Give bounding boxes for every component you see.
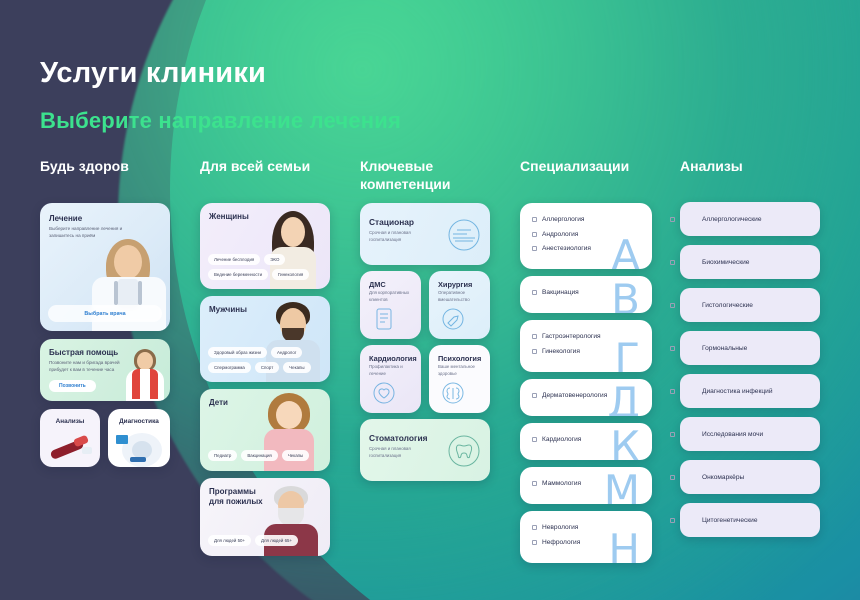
spec-item[interactable]: Нефрология: [532, 536, 640, 551]
card-analyses-mini[interactable]: Анализы: [40, 409, 100, 467]
analysis-label: Гормональные: [680, 345, 747, 352]
card-surgery[interactable]: Хирургия Оперативное вмешательство: [429, 271, 490, 339]
call-button[interactable]: Позвонить: [49, 380, 96, 392]
analysis-item-cytogenetic[interactable]: Цитогенетические: [680, 503, 820, 537]
tag[interactable]: Гинекология: [272, 269, 309, 280]
tags-women: Лечение бесплодия ЭКО Ведение беременнос…: [208, 254, 314, 280]
card-family-men[interactable]: Мужчины Здоровый образ жизни Андролог Сп…: [200, 296, 330, 382]
page-subtitle: Выберите направление лечения: [40, 108, 401, 134]
card-treatment-title: Лечение: [49, 214, 127, 223]
mri-scanner-icon: [116, 431, 162, 465]
scalpel-icon: [441, 307, 465, 331]
tag[interactable]: Ведение беременности: [208, 269, 268, 280]
column-title-competence: Ключевые компетенции: [360, 158, 475, 193]
card-psychology[interactable]: Психология Ваше ментальное здоровье: [429, 345, 490, 413]
card-diagnostics-mini-title: Диагностика: [108, 418, 170, 425]
analysis-item-oncomarkers[interactable]: Онкомаркёры: [680, 460, 820, 494]
column-title-analyses: Анализы: [680, 158, 743, 176]
tags-children: Педиатр Вакцинация Чекапы: [208, 450, 320, 461]
spec-item[interactable]: Маммология: [532, 477, 640, 492]
spec-group-a[interactable]: А Аллергология Андрология Анестезиология: [520, 203, 652, 269]
analysis-label: Цитогенетические: [680, 517, 758, 524]
card-fast-help-title: Быстрая помощь: [49, 348, 123, 357]
tag[interactable]: ЭКО: [264, 254, 285, 265]
card-cardiology[interactable]: Кардиология Профилактика и лечение: [360, 345, 421, 413]
tag[interactable]: Здоровый образ жизни: [208, 347, 267, 358]
paramedic-photo: [120, 345, 168, 401]
card-cardiology-title: Кардиология: [369, 354, 417, 363]
card-dentistry-title: Стоматология: [369, 433, 428, 443]
card-dms-subtitle: Для корпоративных клиентов: [369, 290, 412, 304]
tooth-icon: [448, 435, 480, 467]
card-cardiology-subtitle: Профилактика и лечение: [369, 364, 412, 378]
spec-group-k[interactable]: К Кардиология: [520, 423, 652, 460]
analysis-item-urine[interactable]: Исследования мочи: [680, 417, 820, 451]
spec-group-n[interactable]: Н Неврология Нефрология: [520, 511, 652, 563]
tag[interactable]: Педиатр: [208, 450, 237, 461]
spec-group-d[interactable]: Д Дерматовенерология: [520, 379, 652, 416]
spec-item[interactable]: Вакцинация: [532, 286, 640, 301]
card-dms[interactable]: ДМС Для корпоративных клиентов: [360, 271, 421, 339]
card-family-children-title: Дети: [209, 398, 228, 408]
card-treatment-subtitle: Выберите направление лечения и запишитес…: [49, 226, 127, 240]
tag[interactable]: Спорт: [255, 362, 279, 373]
analysis-item-biochemical[interactable]: Биохимические: [680, 245, 820, 279]
spec-item[interactable]: Гастроэнтерология: [532, 330, 640, 345]
card-fast-help[interactable]: Быстрая помощь Позвоните нам и бригада в…: [40, 339, 170, 401]
page-root: Услуги клиники Выберите направление лече…: [0, 0, 860, 600]
spec-item[interactable]: Гинекология: [532, 345, 640, 360]
choose-doctor-button[interactable]: Выбрать врача: [48, 305, 162, 322]
column-title-specializations: Специализации: [520, 158, 629, 176]
tag[interactable]: Для людей 50+: [208, 535, 251, 546]
card-psychology-subtitle: Ваше ментальное здоровье: [438, 364, 481, 378]
card-treatment[interactable]: Лечение Выберите направление лечения и з…: [40, 203, 170, 331]
tag[interactable]: Спермограмма: [208, 362, 251, 373]
card-psychology-title: Психология: [438, 354, 481, 363]
spec-group-m[interactable]: М Маммология: [520, 467, 652, 504]
tag[interactable]: Вакцинация: [241, 450, 277, 461]
tag[interactable]: Андролог: [271, 347, 302, 358]
card-hospital-subtitle: Срочная и плановая госпитализация: [369, 230, 444, 244]
brain-icon: [441, 381, 465, 405]
tag[interactable]: Лечение бесплодия: [208, 254, 260, 265]
card-family-women-title: Женщины: [209, 212, 249, 222]
spec-item[interactable]: Неврология: [532, 521, 640, 536]
analysis-label: Онкомаркёры: [680, 474, 744, 481]
card-hospital-title: Стационар: [369, 217, 414, 227]
analysis-label: Исследования мочи: [680, 431, 763, 438]
analysis-label: Диагностика инфекций: [680, 388, 773, 395]
card-family-men-title: Мужчины: [209, 305, 247, 315]
card-analyses-mini-title: Анализы: [40, 418, 100, 425]
spec-item[interactable]: Дерматовенерология: [532, 389, 640, 404]
blood-tube-icon: [50, 433, 90, 459]
card-diagnostics-mini[interactable]: Диагностика: [108, 409, 170, 467]
heart-icon: [372, 381, 396, 405]
card-family-children[interactable]: Дети Педиатр Вакцинация Чекапы: [200, 389, 330, 471]
spec-group-g[interactable]: Г Гастроэнтерология Гинекология: [520, 320, 652, 372]
spec-group-v[interactable]: В Вакцинация: [520, 276, 652, 313]
analysis-item-allergology[interactable]: Аллергологические: [680, 202, 820, 236]
card-dms-title: ДМС: [369, 280, 386, 289]
tags-elderly: Для людей 50+ Для людей 65+: [208, 535, 320, 546]
document-icon: [372, 307, 396, 331]
card-dentistry-subtitle: Срочная и плановая госпитализация: [369, 446, 444, 460]
card-dentistry[interactable]: Стоматология Срочная и плановая госпитал…: [360, 419, 490, 481]
card-surgery-subtitle: Оперативное вмешательство: [438, 290, 481, 304]
card-hospital[interactable]: Стационар Срочная и плановая госпитализа…: [360, 203, 490, 265]
analysis-item-histological[interactable]: Гистологические: [680, 288, 820, 322]
analysis-item-infections[interactable]: Диагностика инфекций: [680, 374, 820, 408]
card-family-women[interactable]: Женщины Лечение бесплодия ЭКО Ведение бе…: [200, 203, 330, 289]
tags-men: Здоровый образ жизни Андролог Спермограм…: [208, 347, 320, 373]
analysis-item-hormonal[interactable]: Гормональные: [680, 331, 820, 365]
column-title-family: Для всей семьи: [200, 158, 310, 176]
card-fast-help-subtitle: Позвоните нам и бригада врачей прибудет …: [49, 360, 123, 374]
page-title: Услуги клиники: [40, 57, 266, 90]
spec-item[interactable]: Кардиология: [532, 433, 640, 448]
card-surgery-title: Хирургия: [438, 280, 472, 289]
card-family-elderly-title: Программы для пожилых: [209, 487, 263, 507]
tag[interactable]: Чекапы: [283, 362, 310, 373]
tag[interactable]: Для людей 65+: [255, 535, 298, 546]
analysis-label: Гистологические: [680, 302, 753, 309]
analysis-label: Биохимические: [680, 259, 749, 266]
card-family-elderly[interactable]: Программы для пожилых Для людей 50+ Для …: [200, 478, 330, 556]
hospital-bed-icon: [448, 219, 480, 251]
column-title-health: Будь здоров: [40, 158, 129, 176]
analysis-label: Аллергологические: [680, 216, 762, 223]
spec-item[interactable]: Андрология: [532, 228, 640, 243]
spec-item[interactable]: Аллергология: [532, 213, 640, 228]
spec-item[interactable]: Анестезиология: [532, 242, 640, 257]
tag[interactable]: Чекапы: [282, 450, 309, 461]
